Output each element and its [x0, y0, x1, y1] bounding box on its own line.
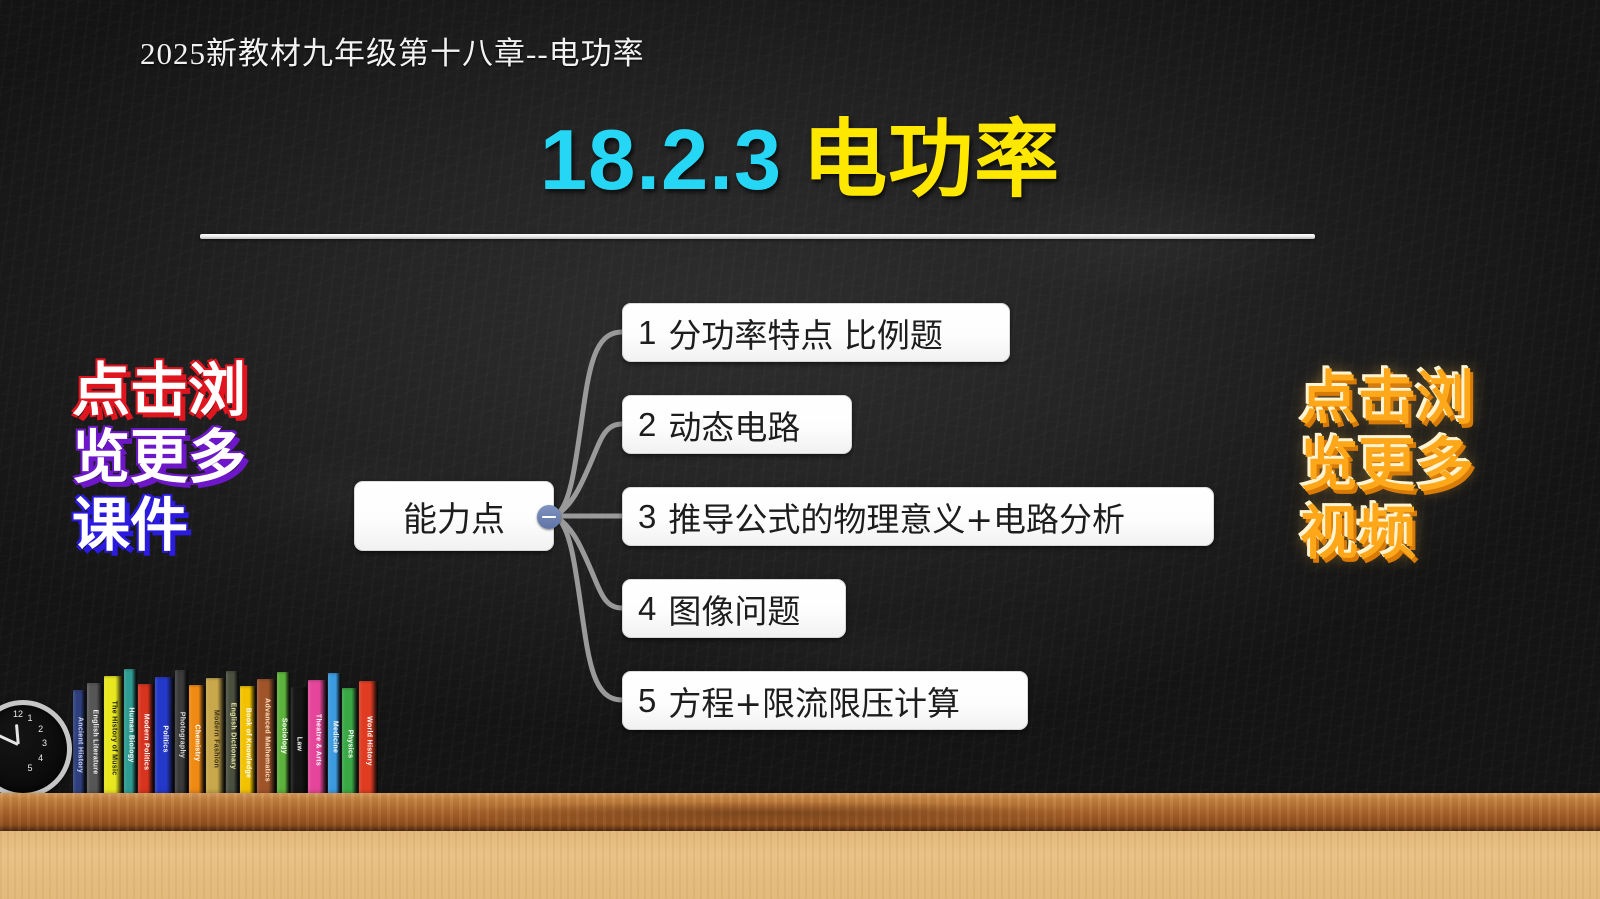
mindmap-node-3-index: 3 — [638, 498, 656, 536]
promo-right-line-2: 览更多 — [1300, 435, 1474, 496]
mindmap-node-5-index: 5 — [638, 682, 656, 720]
promo-left-line-1: 点击浏 — [72, 360, 246, 421]
book-title: Sociology — [280, 718, 287, 754]
book-spine: Medicine — [328, 673, 341, 800]
book-spine: Modern Politics — [138, 684, 154, 800]
mindmap-node-1-index: 1 — [638, 314, 656, 352]
book-title: Modern Politics — [143, 714, 150, 771]
mindmap-node-2[interactable]: 2 动态电路 — [622, 395, 852, 454]
book-spine: Ancient History — [73, 690, 86, 800]
book-title: English Literature — [92, 709, 99, 774]
promo-right-line-1: 点击浏 — [1300, 368, 1474, 429]
book-spine: English Literature — [87, 683, 103, 800]
book-title: Human Biology — [127, 707, 134, 762]
clock-numeral: 1 — [28, 713, 33, 723]
mindmap-root-label: 能力点 — [403, 492, 505, 541]
book-title: Theatre & Arts — [314, 714, 321, 766]
book-title: Advanced Mathematics — [263, 698, 270, 782]
mindmap-node-1[interactable]: 1 分功率特点 比例题 — [622, 303, 1010, 362]
book-spine: Law — [291, 687, 307, 800]
book-title: World History — [365, 716, 372, 766]
mindmap-node-2-index: 2 — [638, 406, 656, 444]
book-spine: World History — [359, 681, 378, 800]
mindmap-node-5-label: 方程+限流限压计算 — [668, 677, 960, 725]
book-title: Chemistry — [194, 724, 201, 761]
book-spine: Sociology — [277, 672, 290, 800]
mindmap-node-3[interactable]: 3 推导公式的物理意义+电路分析 — [622, 487, 1214, 546]
mindmap-node-1-label: 分功率特点 比例题 — [668, 309, 943, 357]
book-spine: Physics — [342, 688, 358, 800]
mindmap-node-4[interactable]: 4 图像问题 — [622, 579, 846, 638]
book-spine: Advanced Mathematics — [257, 679, 276, 800]
mindmap-root-node[interactable]: 能力点 — [354, 481, 554, 551]
promo-left-line-2: 览更多 — [72, 427, 246, 488]
book-spine: Theatre & Arts — [308, 680, 327, 800]
book-title: English Dictionary — [229, 702, 236, 769]
clock-numeral: 12 — [13, 709, 23, 719]
clock-hour-hand — [15, 724, 19, 744]
book-title: Modern Fashion — [212, 710, 219, 768]
mindmap-node-4-label: 图像问题 — [668, 585, 800, 633]
book-title: The History of Music — [110, 701, 117, 776]
wooden-desk-surface — [0, 831, 1600, 899]
book-title: Physics — [347, 730, 354, 759]
chalkboard-background: 2025新教材九年级第十八章--电功率 18.2.3电功率 能力点 1 分功率特… — [0, 0, 1600, 800]
book-spine: Photography — [175, 670, 188, 800]
wooden-shelf-ledge — [0, 793, 1600, 831]
promo-right-line-3: 视频 — [1300, 503, 1474, 564]
book-title: Photography — [178, 712, 185, 758]
book-title: Law — [296, 736, 303, 751]
book-spine: Chemistry — [189, 685, 205, 800]
book-spine: English Dictionary — [226, 671, 239, 800]
clock-numeral: 5 — [28, 763, 33, 773]
minus-circle-icon[interactable] — [537, 505, 561, 529]
promo-right[interactable]: 点击浏 览更多 视频 — [1300, 368, 1474, 570]
mindmap-node-4-index: 4 — [638, 590, 656, 628]
book-spine: Human Biology — [124, 669, 137, 800]
bookshelf-books: Ancient HistoryEnglish LiteratureThe His… — [73, 664, 379, 800]
book-title: Ancient History — [76, 717, 83, 773]
book-spine: Modern Fashion — [206, 678, 225, 800]
book-title: Politics — [161, 725, 168, 752]
book-spine: The History of Music — [104, 676, 123, 800]
clock-numeral: 4 — [38, 753, 43, 763]
book-spine: Book of Knowledge — [240, 686, 256, 800]
mindmap-node-3-label: 推导公式的物理意义+电路分析 — [668, 493, 1125, 541]
book-title: Book of Knowledge — [245, 708, 252, 778]
mindmap-node-2-label: 动态电路 — [668, 401, 800, 449]
book-spine: Politics — [155, 677, 174, 800]
promo-left-line-3: 课件 — [72, 495, 246, 556]
promo-left[interactable]: 点击浏 览更多 课件 — [72, 360, 246, 562]
mindmap-node-5[interactable]: 5 方程+限流限压计算 — [622, 671, 1028, 730]
clock-numeral: 3 — [42, 738, 47, 748]
book-title: Medicine — [331, 720, 338, 752]
clock-numeral: 2 — [38, 724, 43, 734]
